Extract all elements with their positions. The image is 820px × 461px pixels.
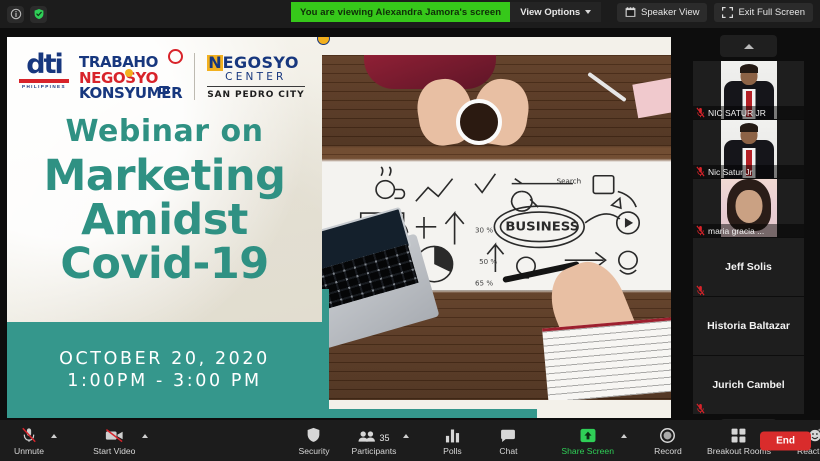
meeting-controls-toolbar: UnmuteStart VideoSecurity35ParticipantsP… bbox=[0, 420, 820, 461]
toolbar-item-label: Security bbox=[298, 446, 329, 456]
poster-teal-edge-left bbox=[322, 289, 329, 409]
participant-name: maria gracia ... bbox=[708, 226, 764, 236]
participant-name-overlay: maria gracia ... bbox=[693, 224, 804, 237]
toolbar-item-label: Share Screen bbox=[561, 446, 614, 456]
chat-bubble-icon bbox=[500, 426, 516, 443]
shield-icon bbox=[306, 426, 321, 443]
speaker-view-label: Speaker View bbox=[641, 7, 699, 18]
mic-muted-icon bbox=[696, 107, 705, 118]
dti-philippines-label: PHILIPPINES bbox=[22, 84, 66, 89]
filmstrip-tiles: NIC SATUR JRNic Satur Jrmaria gracia ...… bbox=[677, 61, 820, 414]
mic-muted-icon bbox=[696, 225, 705, 236]
microphone-muted-icon bbox=[21, 426, 37, 443]
share-screen-up-arrow-icon bbox=[580, 426, 596, 443]
toolbar-items: UnmuteStart VideoSecurity35ParticipantsP… bbox=[0, 420, 820, 461]
toolbar-start-video-button[interactable]: Start Video bbox=[93, 420, 135, 461]
webinar-poster: dti PHILIPPINES TRABAHO NEGOSYO KONSYUME… bbox=[7, 37, 671, 418]
dti-wordmark: dti bbox=[26, 53, 62, 78]
filmstrip-scroll-up-button[interactable] bbox=[720, 35, 777, 57]
toolbar-participants-button[interactable]: 35Participants bbox=[352, 420, 397, 461]
participants-count: 35 bbox=[379, 433, 389, 443]
poster-date-banner: OCTOBER 20, 2020 1:00PM - 3:00 PM bbox=[7, 322, 322, 418]
participant-name: NIC SATUR JR bbox=[708, 108, 766, 118]
video-muted-icon bbox=[105, 426, 124, 443]
participant-name: Jurich Cambel bbox=[712, 379, 784, 391]
toolbar-unmute-button[interactable]: Unmute bbox=[14, 420, 44, 461]
participant-name: Nic Satur Jr bbox=[708, 167, 752, 177]
negosyo-wordmark: EGOSYO bbox=[223, 53, 299, 72]
chevron-up-icon[interactable] bbox=[142, 434, 148, 438]
poster-left-panel: dti PHILIPPINES TRABAHO NEGOSYO KONSYUME… bbox=[7, 37, 322, 418]
participant-tile[interactable]: Jeff Solis bbox=[693, 238, 804, 296]
speaker-view-icon bbox=[625, 7, 636, 18]
top-bar-right-buttons: Speaker View Exit Full Screen bbox=[617, 3, 813, 22]
viewing-screen-banner: You are viewing Alexandra Jamora's scree… bbox=[291, 2, 510, 22]
toolbar-item-label: Chat bbox=[499, 446, 517, 456]
participants-icon: 35 bbox=[358, 426, 389, 443]
sticky-note bbox=[632, 78, 671, 118]
negosyo-n-initial: N bbox=[207, 55, 222, 71]
participant-name-overlay: Nic Satur Jr bbox=[693, 165, 804, 178]
dti-logo: dti PHILIPPINES bbox=[19, 53, 69, 89]
shared-screen-viewport[interactable]: dti PHILIPPINES TRABAHO NEGOSYO KONSYUME… bbox=[7, 37, 671, 418]
svg-text:BUSINESS: BUSINESS bbox=[505, 220, 579, 235]
top-bar: You are viewing Alexandra Jamora's scree… bbox=[0, 0, 820, 28]
view-options-dropdown[interactable]: View Options bbox=[510, 2, 601, 22]
poster-date: OCTOBER 20, 2020 bbox=[59, 349, 270, 369]
participant-tile[interactable]: maria gracia ... bbox=[693, 179, 804, 237]
toolbar-share-screen-button[interactable]: Share Screen bbox=[561, 420, 614, 461]
poster-title: Marketing Amidst Covid-19 bbox=[7, 155, 322, 287]
chevron-up-icon[interactable] bbox=[403, 434, 409, 438]
toolbar-item-label: Polls bbox=[443, 446, 462, 456]
poster-time: 1:00PM - 3:00 PM bbox=[67, 371, 262, 391]
negosyo-city-label: SAN PEDRO CITY bbox=[207, 90, 304, 100]
negosyo-center-logo: N EGOSYO CENTER SAN PEDRO CITY bbox=[194, 53, 304, 100]
participant-name: Jeff Solis bbox=[725, 261, 772, 273]
shopping-cart-icon bbox=[159, 86, 169, 94]
chevron-up-icon[interactable] bbox=[621, 434, 627, 438]
chevron-down-icon bbox=[585, 10, 591, 14]
toolbar-polls-button[interactable]: Polls bbox=[437, 420, 467, 461]
poster-logos: dti PHILIPPINES TRABAHO NEGOSYO KONSYUME… bbox=[7, 37, 322, 102]
toolbar-record-button[interactable]: Record bbox=[653, 420, 683, 461]
view-options-label: View Options bbox=[520, 7, 580, 18]
toolbar-item-label: Record bbox=[654, 446, 682, 456]
toolbar-item-label: Participants bbox=[352, 446, 397, 456]
chevron-up-icon[interactable] bbox=[51, 434, 57, 438]
toolbar-item-label: Start Video bbox=[93, 446, 135, 456]
speaker-view-button[interactable]: Speaker View bbox=[617, 3, 707, 22]
poster-title-line2: Amidst bbox=[7, 199, 322, 243]
poster-subtitle: Webinar on bbox=[7, 114, 322, 149]
svg-text:65 %: 65 % bbox=[475, 280, 493, 288]
toolbar-chat-button[interactable]: Chat bbox=[493, 420, 523, 461]
zoom-meeting-window: You are viewing Alexandra Jamora's scree… bbox=[0, 0, 820, 461]
end-meeting-button[interactable]: End bbox=[760, 431, 811, 450]
exit-full-screen-label: Exit Full Screen bbox=[738, 7, 805, 18]
mic-muted-icon bbox=[696, 283, 705, 294]
encryption-shield-icon[interactable] bbox=[30, 6, 47, 23]
mic-muted-icon bbox=[696, 401, 705, 412]
coffee-cup bbox=[456, 99, 502, 145]
lightbulb-icon bbox=[125, 69, 133, 77]
poster-title-line3: Covid-19 bbox=[7, 243, 322, 287]
poster-photo-panel: BUSINESS Search 20 % 30 % 50 % 65 % bbox=[322, 37, 671, 418]
negosyo-center-label: CENTER bbox=[207, 71, 304, 83]
notebook bbox=[542, 316, 671, 400]
participant-name: Historia Baltazar bbox=[707, 320, 790, 332]
toolbar-security-button[interactable]: Security bbox=[298, 420, 329, 461]
svg-text:Search: Search bbox=[557, 178, 582, 186]
participant-tile[interactable]: Historia Baltazar bbox=[693, 297, 804, 355]
participants-filmstrip: NIC SATUR JRNic Satur Jrmaria gracia ...… bbox=[677, 30, 820, 421]
participant-name-overlay: NIC SATUR JR bbox=[693, 106, 804, 119]
business-desk-photo: BUSINESS Search 20 % 30 % 50 % 65 % bbox=[322, 55, 671, 400]
poster-title-line1: Marketing bbox=[7, 155, 322, 199]
toolbar-item-label: Unmute bbox=[14, 446, 44, 456]
top-bar-left-icons bbox=[0, 6, 47, 23]
poster-teal-edge-bottom bbox=[322, 409, 537, 418]
exit-fullscreen-icon bbox=[722, 7, 733, 18]
mic-muted-icon bbox=[696, 166, 705, 177]
record-circle-icon bbox=[660, 426, 675, 443]
exit-full-screen-button[interactable]: Exit Full Screen bbox=[714, 3, 813, 22]
breakout-rooms-grid-icon bbox=[731, 426, 746, 443]
divider bbox=[207, 86, 304, 87]
trabaho-negosyo-konsyumer-logo: TRABAHO NEGOSYO KONSYUMER bbox=[79, 53, 182, 102]
screen-share-status: You are viewing Alexandra Jamora's scree… bbox=[291, 2, 601, 22]
polls-bar-chart-icon bbox=[445, 426, 460, 443]
participant-tile[interactable]: Jurich Cambel bbox=[693, 356, 804, 414]
svg-text:50 %: 50 % bbox=[479, 258, 497, 266]
participant-tile[interactable]: NIC SATUR JR bbox=[693, 61, 804, 119]
svg-text:30 %: 30 % bbox=[475, 227, 493, 235]
info-icon[interactable] bbox=[7, 6, 24, 23]
chevron-up-icon bbox=[744, 44, 754, 49]
participant-tile[interactable]: Nic Satur Jr bbox=[693, 120, 804, 178]
